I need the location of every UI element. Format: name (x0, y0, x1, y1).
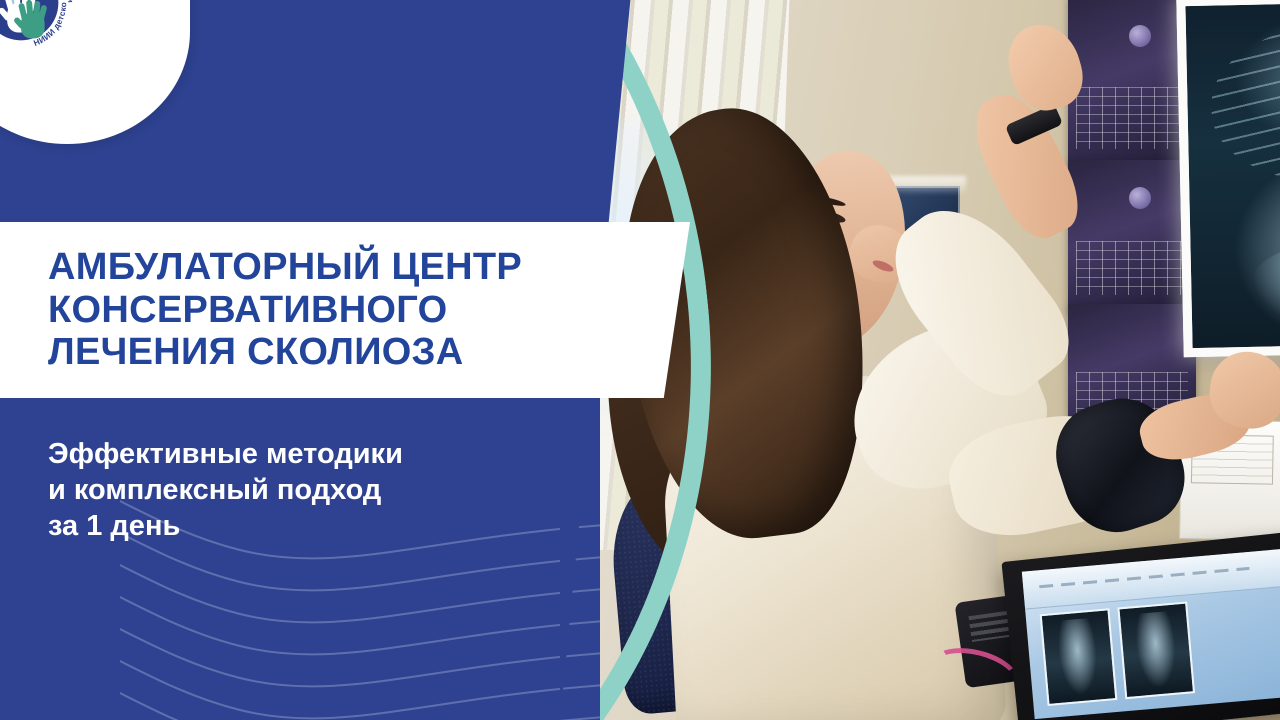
subtitle: Эффективные методики и комплексный подхо… (48, 437, 548, 545)
promo-banner: L (0, 0, 1280, 720)
imaging-monitor (1001, 531, 1280, 720)
title-card: АМБУЛАТОРНЫЙ ЦЕНТР КОНСЕРВАТИВНОГО ЛЕЧЕН… (0, 222, 690, 398)
page-title: АМБУЛАТОРНЫЙ ЦЕНТР КОНСЕРВАТИВНОГО ЛЕЧЕН… (48, 246, 522, 374)
xray-thumbnail (1117, 602, 1195, 700)
software-toolbar (1022, 548, 1280, 610)
hands-plant-logo-icon: травматологии и ортопедии имени Г.И. Тур… (0, 0, 80, 60)
monitor-screen (1022, 548, 1280, 719)
xray-thumbnail (1039, 609, 1117, 707)
